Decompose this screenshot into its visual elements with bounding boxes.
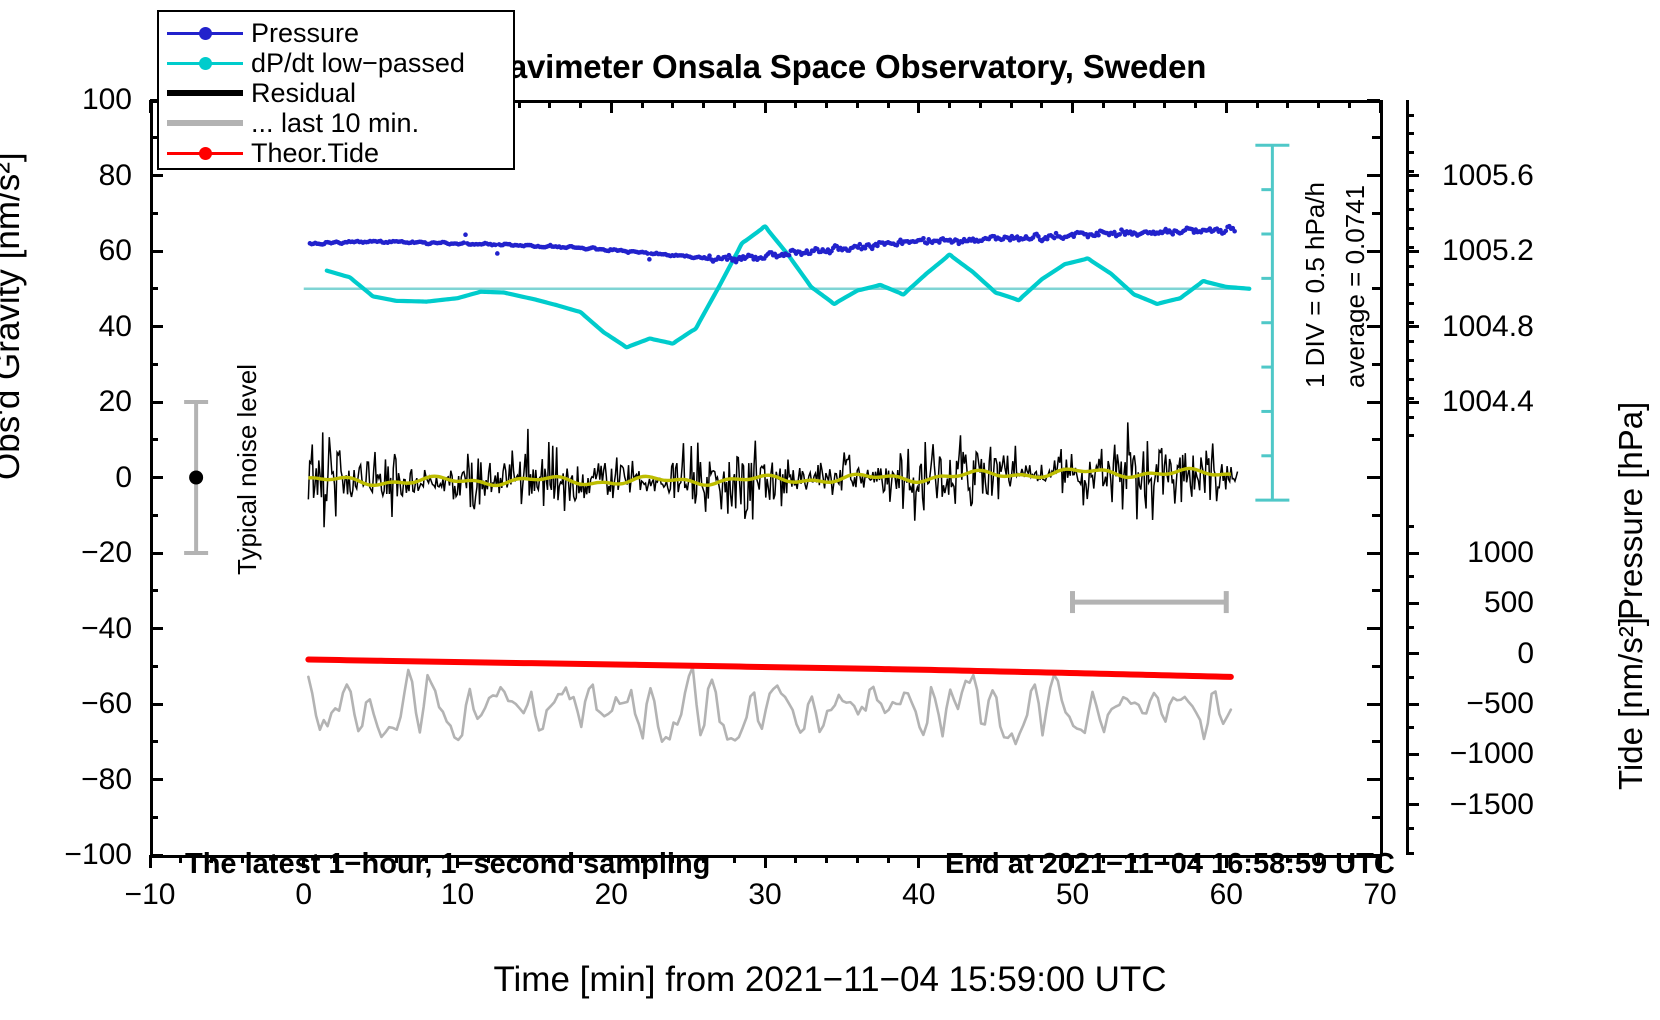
noise-level-marker xyxy=(150,100,1380,855)
plot-area: −100−80−60−40−20020406080100 −1001020304… xyxy=(150,100,1380,855)
y-axis-label-pressure: Pressure [hPa] xyxy=(1612,402,1650,620)
y-axis-label-gravity: Obs'd Gravity [nm/s²] xyxy=(0,152,28,480)
tick-label-pressure: 1005.2 xyxy=(1442,234,1534,268)
tick-tide xyxy=(1406,803,1419,806)
tick-pressure-minor xyxy=(1406,397,1414,400)
tick-label-tide: −1000 xyxy=(1442,737,1534,771)
tick-label-time: 50 xyxy=(1056,878,1089,912)
legend-item-4[interactable]: Theor.Tide xyxy=(159,138,513,168)
tick-label-pressure: 1004.8 xyxy=(1442,310,1534,344)
tick-tide xyxy=(1406,552,1419,555)
x-axis-label: Time [min] from 2021−11−04 15:59:00 UTC xyxy=(0,960,1660,1000)
legend-label: Theor.Tide xyxy=(251,138,379,169)
tick-label-gravity: 0 xyxy=(115,461,132,495)
tick-pressure-minor xyxy=(1406,227,1414,230)
tick-label-gravity: 20 xyxy=(99,385,132,419)
tick-pressure-minor xyxy=(1406,340,1414,343)
caption-sampling: The latest 1−hour, 1−second sampling xyxy=(185,848,710,881)
tick-label-tide: 500 xyxy=(1442,586,1534,620)
tick-label-gravity: −40 xyxy=(81,612,132,646)
tick-pressure-minor xyxy=(1406,246,1414,249)
tick-tide xyxy=(1406,602,1419,605)
tick-label-time: −10 xyxy=(125,878,176,912)
tick-label-time: 0 xyxy=(295,878,312,912)
legend: PressuredP/dt low−passedResidual... last… xyxy=(157,10,515,170)
tick-pressure-minor xyxy=(1406,302,1414,305)
tick-tide-minor xyxy=(1406,777,1414,780)
legend-swatch-icon xyxy=(159,48,251,78)
tick-label-tide: −1500 xyxy=(1442,788,1534,822)
tick-tide xyxy=(1406,652,1419,655)
tick-label-tide: 0 xyxy=(1442,637,1534,671)
tick-pressure-minor xyxy=(1406,151,1414,154)
tick-time xyxy=(825,855,828,863)
tick-pressure-minor xyxy=(1406,416,1414,419)
tick-time xyxy=(179,855,182,863)
legend-swatch-icon xyxy=(159,18,251,48)
tick-tide-minor xyxy=(1406,676,1414,679)
tick-pressure xyxy=(1406,325,1419,328)
scale-average-label: average = 0.0741 xyxy=(1340,185,1371,388)
tick-tide-minor xyxy=(1406,852,1414,855)
tick-time xyxy=(733,855,736,863)
tick-time xyxy=(149,855,152,868)
tick-label-time: 20 xyxy=(595,878,628,912)
legend-item-3[interactable]: ... last 10 min. xyxy=(159,108,513,138)
tick-pressure-minor xyxy=(1406,265,1414,268)
legend-swatch-icon xyxy=(159,108,251,138)
legend-label: Pressure xyxy=(251,18,359,49)
tick-label-gravity: −60 xyxy=(81,687,132,721)
legend-swatch-icon xyxy=(159,78,251,108)
tick-pressure-minor xyxy=(1406,114,1414,117)
tick-tide xyxy=(1406,753,1419,756)
tick-label-pressure: 1004.4 xyxy=(1442,385,1534,419)
tick-tide-minor xyxy=(1406,827,1414,830)
tick-pressure-minor xyxy=(1406,208,1414,211)
tick-pressure-minor xyxy=(1406,359,1414,362)
tick-label-gravity: −100 xyxy=(64,838,132,872)
tick-pressure-minor xyxy=(1406,189,1414,192)
tick-label-gravity: −20 xyxy=(81,536,132,570)
legend-label: ... last 10 min. xyxy=(251,108,419,139)
y-axis-label-tide: Tide [nm/s²] xyxy=(1612,617,1650,790)
tick-label-time: 70 xyxy=(1363,878,1396,912)
legend-swatch-icon xyxy=(159,138,251,168)
tick-pressure xyxy=(1406,401,1419,404)
tick-tide-minor xyxy=(1406,525,1414,528)
legend-item-0[interactable]: Pressure xyxy=(159,18,513,48)
tick-time xyxy=(887,855,890,863)
tick-tide-minor xyxy=(1406,575,1414,578)
tick-pressure-minor xyxy=(1406,283,1414,286)
tick-label-gravity: 100 xyxy=(82,83,132,117)
tick-label-time: 30 xyxy=(748,878,781,912)
tick-pressure-minor xyxy=(1406,170,1414,173)
tick-label-time: 40 xyxy=(902,878,935,912)
tick-label-gravity: 60 xyxy=(99,234,132,268)
tick-label-time: 10 xyxy=(441,878,474,912)
tick-time xyxy=(917,855,920,868)
tick-label-tide: 1000 xyxy=(1442,536,1534,570)
tick-pressure-minor xyxy=(1406,321,1414,324)
legend-item-2[interactable]: Residual xyxy=(159,78,513,108)
tick-pressure-minor xyxy=(1406,378,1414,381)
caption-end-time: End at 2021−11−04 16:58:59 UTC xyxy=(945,848,1395,881)
axis-right-secondary xyxy=(1406,100,1409,855)
legend-label: dP/dt low−passed xyxy=(251,48,465,79)
legend-label: Residual xyxy=(251,78,356,109)
tick-pressure xyxy=(1406,174,1419,177)
tick-label-tide: −500 xyxy=(1442,687,1534,721)
tick-tide-minor xyxy=(1406,726,1414,729)
tick-tide-minor xyxy=(1406,626,1414,629)
tick-pressure-minor xyxy=(1406,132,1414,135)
noise-level-label: Typical noise level xyxy=(232,364,263,575)
tick-label-gravity: 40 xyxy=(99,310,132,344)
tick-tide xyxy=(1406,703,1419,706)
tick-label-time: 60 xyxy=(1210,878,1243,912)
noise-center-dot xyxy=(189,471,203,485)
axis-right xyxy=(1380,100,1383,855)
tick-pressure-minor xyxy=(1406,434,1414,437)
legend-item-1[interactable]: dP/dt low−passed xyxy=(159,48,513,78)
tick-pressure xyxy=(1406,250,1419,253)
tick-time xyxy=(794,855,797,863)
scale-division-label: 1 DIV = 0.5 hPa/h xyxy=(1300,182,1331,388)
tick-label-pressure: 1005.6 xyxy=(1442,159,1534,193)
tick-label-gravity: 80 xyxy=(99,159,132,193)
tick-time xyxy=(856,855,859,863)
tick-label-gravity: −80 xyxy=(81,763,132,797)
tick-time xyxy=(764,855,767,868)
